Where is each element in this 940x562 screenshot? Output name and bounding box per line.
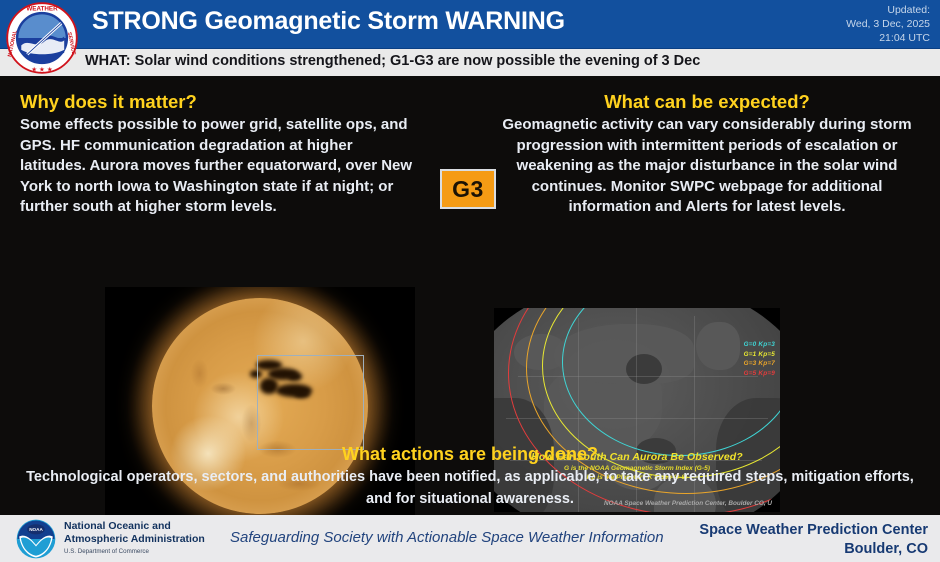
footer-office: Space Weather Prediction Center Boulder,… [699, 521, 928, 559]
what-can-be-expected-section: What can be expected? Geomagnetic activi… [490, 90, 924, 218]
noaa-agency-name: National Oceanic and Atmospheric Adminis… [64, 520, 205, 555]
office-name: Space Weather Prediction Center [699, 521, 928, 540]
why-heading: Why does it matter? [20, 90, 420, 114]
legend-item-g1: G=1 Kp=5 [744, 350, 775, 360]
svg-text:WEATHER: WEATHER [26, 6, 58, 13]
actions-body: Technological operators, sectors, and au… [0, 466, 940, 510]
national-weather-service-logo: WEATHER NATIONAL SERVICE ★ ★ ★ [4, 1, 80, 75]
updated-time: 21:04 UTC [846, 31, 930, 45]
noaa-logo: NOAA [14, 518, 58, 560]
legend-item-g3: G=3 Kp=7 [744, 359, 775, 369]
updated-timestamp: Updated: Wed, 3 Dec, 2025 21:04 UTC [846, 3, 930, 45]
footer-tagline: Safeguarding Society with Actionable Spa… [230, 529, 664, 546]
footer-bar: NOAA National Oceanic and Atmospheric Ad… [0, 515, 940, 562]
why-does-it-matter-section: Why does it matter? Some effects possibl… [20, 90, 420, 218]
legend-item-g5: G=5 Kp=9 [744, 369, 775, 379]
legend-item-g0: G=0 Kp=3 [744, 340, 775, 350]
expected-heading: What can be expected? [490, 90, 924, 114]
noaa-department-line: U.S. Department of Commerce [64, 548, 205, 555]
swpc-space-weather-poster: WEATHER NATIONAL SERVICE ★ ★ ★ STRONG Ge… [0, 0, 940, 562]
noaa-name-line2: Atmospheric Administration [64, 533, 205, 546]
svg-text:★ ★ ★: ★ ★ ★ [31, 65, 53, 73]
poster-body: Why does it matter? Some effects possibl… [0, 76, 940, 515]
office-location: Boulder, CO [699, 540, 928, 559]
what-statement: WHAT: Solar wind conditions strengthened… [85, 53, 700, 69]
expected-body: Geomagnetic activity can vary considerab… [490, 115, 924, 218]
storm-level-badge: G3 [440, 169, 496, 209]
active-region-highlight-box [257, 355, 364, 450]
updated-label: Updated: [846, 3, 930, 17]
aurora-map-legend: G=0 Kp=3 G=1 Kp=5 G=3 Kp=7 G=5 Kp=9 [744, 340, 775, 378]
storm-level-label: G3 [452, 176, 484, 203]
actions-heading: What actions are being done? [0, 442, 940, 466]
why-body: Some effects possible to power grid, sat… [20, 115, 420, 218]
svg-text:NOAA: NOAA [29, 527, 43, 532]
what-actions-section: What actions are being done? Technologic… [0, 442, 940, 510]
page-title: STRONG Geomagnetic Storm WARNING [92, 7, 565, 36]
noaa-name-line1: National Oceanic and [64, 520, 205, 533]
updated-date: Wed, 3 Dec, 2025 [846, 17, 930, 31]
